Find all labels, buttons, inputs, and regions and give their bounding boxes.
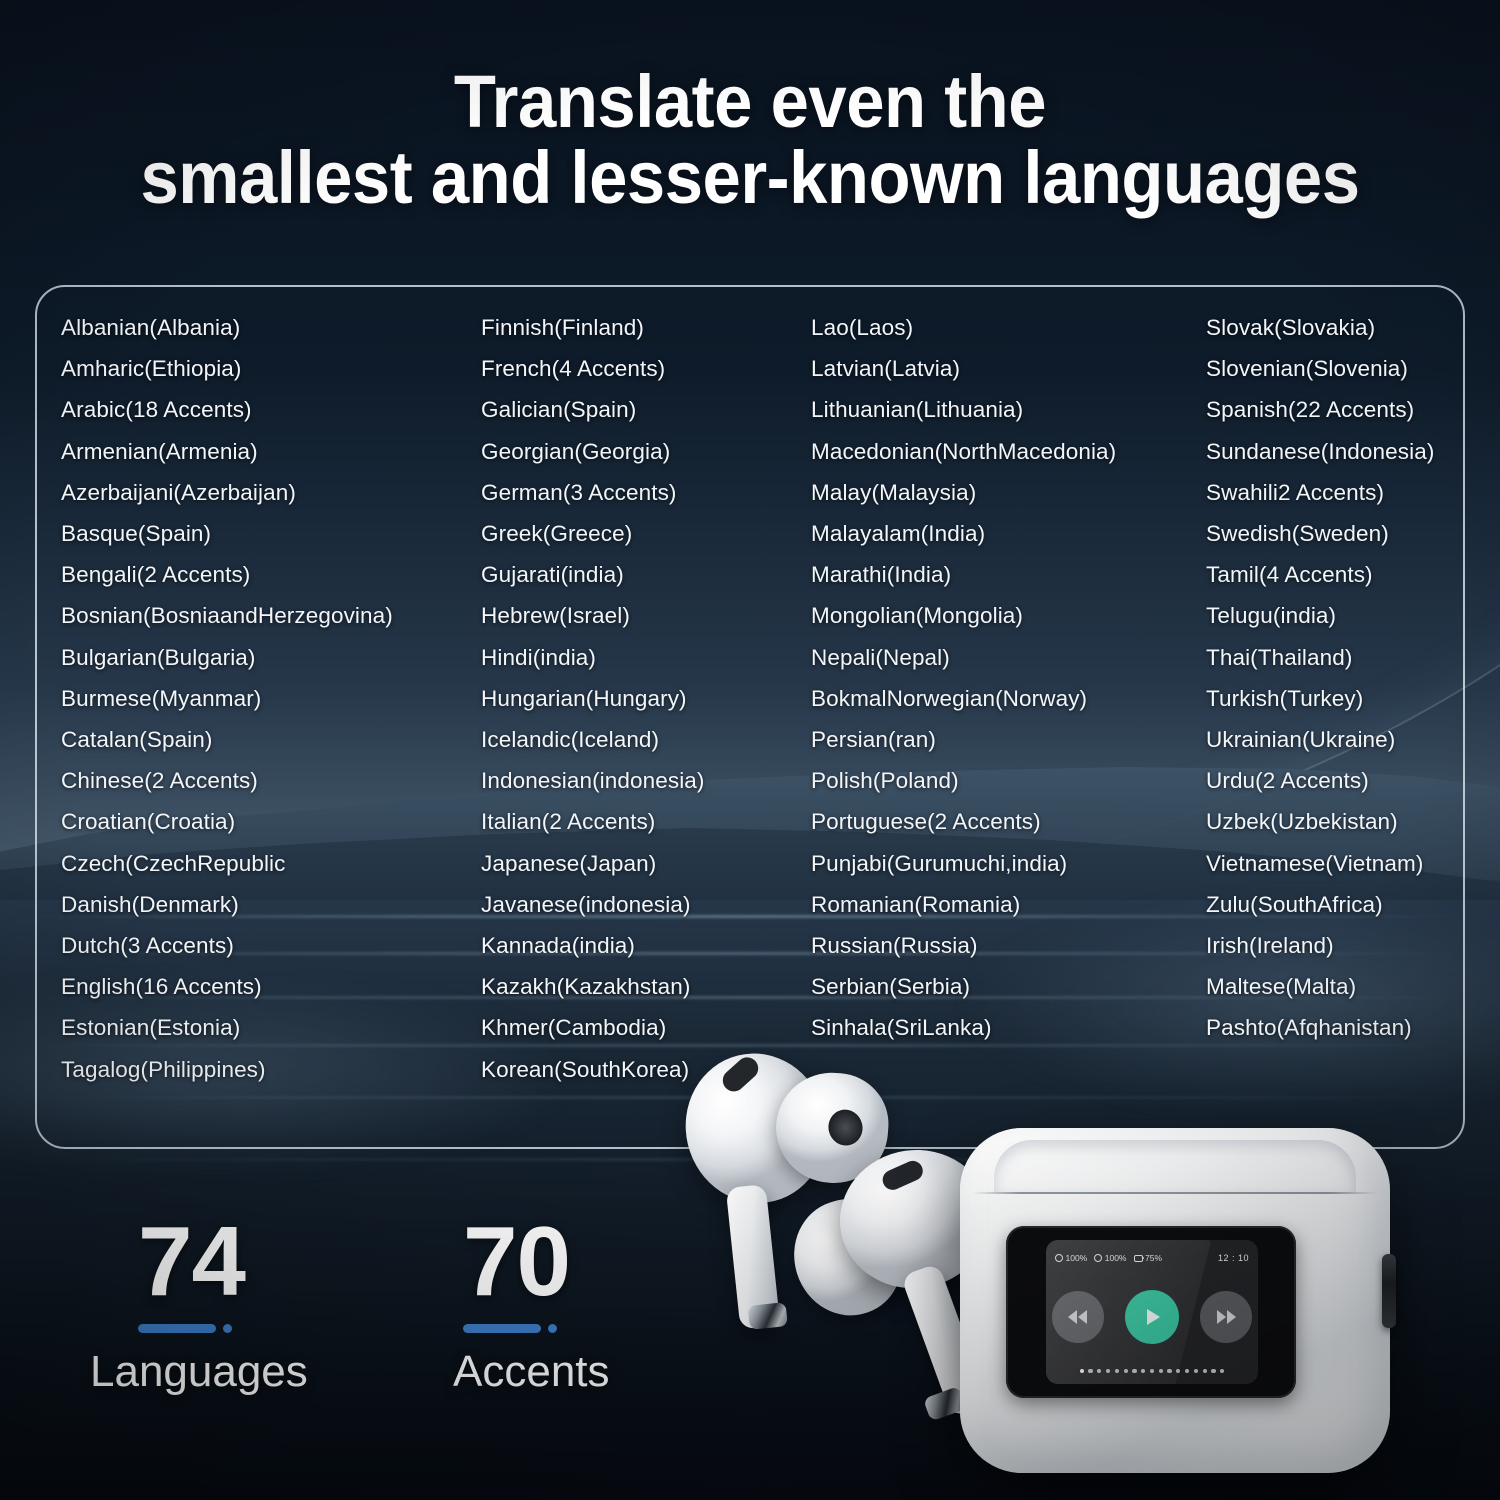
language-item: German(3 Accents)	[481, 472, 811, 513]
language-item: Turkish(Turkey)	[1206, 678, 1491, 719]
language-item: Portuguese(2 Accents)	[811, 801, 1206, 842]
next-track-button[interactable]	[1200, 1291, 1252, 1343]
language-item: Latvian(Latvia)	[811, 348, 1206, 389]
page-dot	[1141, 1369, 1145, 1373]
language-item: Amharic(Ethiopia)	[61, 348, 481, 389]
language-item: Burmese(Myanmar)	[61, 678, 481, 719]
rewind-icon	[1066, 1307, 1090, 1327]
clock-time: 12 : 10	[1218, 1253, 1249, 1263]
page-dot	[1203, 1369, 1207, 1373]
stat-label: Accents	[453, 1347, 610, 1397]
stat-bar-dot	[548, 1324, 557, 1333]
language-item: Hungarian(Hungary)	[481, 678, 811, 719]
language-item: Ukrainian(Ukraine)	[1206, 719, 1491, 760]
language-item: Greek(Greece)	[481, 513, 811, 554]
stat-accent-bar	[138, 1324, 308, 1333]
language-column-1: Albanian(Albania)Amharic(Ethiopia)Arabic…	[61, 307, 481, 1149]
earbud-left-icon	[1055, 1254, 1063, 1262]
language-item: Pashto(Afqhanistan)	[1206, 1007, 1491, 1048]
language-item: Swahili2 Accents)	[1206, 472, 1491, 513]
play-icon	[1141, 1306, 1163, 1328]
language-item: Azerbaijani(Azerbaijan)	[61, 472, 481, 513]
page-dot	[1185, 1369, 1189, 1373]
right-earbud-battery-indicator: 100%	[1094, 1253, 1126, 1263]
language-item: English(16 Accents)	[61, 966, 481, 1007]
language-item: Croatian(Croatia)	[61, 801, 481, 842]
page-title: Translate even the smallest and lesser-k…	[53, 64, 1448, 216]
page-dot	[1088, 1369, 1092, 1373]
charging-case: 100% 100% 75% 12 : 10	[960, 1128, 1390, 1473]
language-item: Russian(Russia)	[811, 925, 1206, 966]
language-item: Nepali(Nepal)	[811, 637, 1206, 678]
stat-value: 74	[138, 1212, 308, 1310]
language-item: Bulgarian(Bulgaria)	[61, 637, 481, 678]
stats-row: 74 Languages 70 Accents	[78, 1212, 698, 1422]
page-dot	[1167, 1369, 1171, 1373]
language-item: Catalan(Spain)	[61, 719, 481, 760]
page-dot	[1150, 1369, 1154, 1373]
language-item: French(4 Accents)	[481, 348, 811, 389]
right-earbud-battery-value: 100%	[1105, 1253, 1127, 1263]
language-item: Estonian(Estonia)	[61, 1007, 481, 1048]
case-lid-seam	[972, 1192, 1378, 1194]
stat-languages: 74 Languages	[138, 1212, 308, 1397]
stat-bar-segment	[138, 1324, 216, 1333]
language-item: Albanian(Albania)	[61, 307, 481, 348]
page-dot	[1159, 1369, 1163, 1373]
stat-label: Languages	[90, 1347, 308, 1397]
language-item: Vietnamese(Vietnam)	[1206, 843, 1491, 884]
media-controls	[1046, 1286, 1258, 1348]
language-item: Czech(CzechRepublic	[61, 843, 481, 884]
left-earbud-battery-value: 100%	[1066, 1253, 1088, 1263]
product-marketing-image: Translate even the smallest and lesser-k…	[0, 0, 1500, 1500]
earbud-right-icon	[1094, 1254, 1102, 1262]
language-item: Uzbek(Uzbekistan)	[1206, 801, 1491, 842]
case-side-button[interactable]	[1382, 1254, 1396, 1328]
language-item: Malayalam(India)	[811, 513, 1206, 554]
battery-icon	[1134, 1255, 1143, 1262]
language-item: Telugu(india)	[1206, 595, 1491, 636]
language-item: Serbian(Serbia)	[811, 966, 1206, 1007]
language-item: Bosnian(BosniaandHerzegovina)	[61, 595, 481, 636]
language-column-4: Slovak(Slovakia)Slovenian(Slovenia)Spani…	[1206, 307, 1491, 1149]
earbud-chrome-tip	[748, 1302, 788, 1330]
previous-track-button[interactable]	[1052, 1291, 1104, 1343]
page-dot	[1124, 1369, 1128, 1373]
case-touch-screen[interactable]: 100% 100% 75% 12 : 10	[1046, 1240, 1258, 1384]
language-item: Japanese(Japan)	[481, 843, 811, 884]
fast-forward-icon	[1214, 1307, 1238, 1327]
language-item: Indonesian(indonesia)	[481, 760, 811, 801]
language-item: Chinese(2 Accents)	[61, 760, 481, 801]
language-item: Icelandic(Iceland)	[481, 719, 811, 760]
language-item: Arabic(18 Accents)	[61, 389, 481, 430]
stat-accents: 70 Accents	[463, 1212, 610, 1397]
stat-accent-bar	[463, 1324, 610, 1333]
language-item: Gujarati(india)	[481, 554, 811, 595]
page-dot	[1097, 1369, 1101, 1373]
language-item: Galician(Spain)	[481, 389, 811, 430]
screen-page-indicator	[1046, 1369, 1258, 1373]
stat-value: 70	[463, 1212, 610, 1310]
language-item: Maltese(Malta)	[1206, 966, 1491, 1007]
left-earbud-battery-indicator: 100%	[1055, 1253, 1087, 1263]
language-item: Punjabi(Gurumuchi,india)	[811, 843, 1206, 884]
page-dot	[1115, 1369, 1119, 1373]
language-item: Kazakh(Kazakhstan)	[481, 966, 811, 1007]
language-item: Polish(Poland)	[811, 760, 1206, 801]
page-dot	[1176, 1369, 1180, 1373]
language-item: Zulu(SouthAfrica)	[1206, 884, 1491, 925]
language-item: Sundanese(Indonesia)	[1206, 431, 1491, 472]
language-item: Spanish(22 Accents)	[1206, 389, 1491, 430]
language-item: Slovak(Slovakia)	[1206, 307, 1491, 348]
language-item: Basque(Spain)	[61, 513, 481, 554]
language-item: Mongolian(Mongolia)	[811, 595, 1206, 636]
page-dot	[1194, 1369, 1198, 1373]
language-item: Armenian(Armenia)	[61, 431, 481, 472]
screen-status-bar: 100% 100% 75% 12 : 10	[1046, 1250, 1258, 1266]
language-item: Romanian(Romania)	[811, 884, 1206, 925]
page-dot	[1220, 1369, 1224, 1373]
language-item: BokmalNorwegian(Norway)	[811, 678, 1206, 719]
headline-line-2: smallest and lesser-known languages	[53, 140, 1448, 216]
case-lid-crease	[994, 1140, 1356, 1192]
language-item: Marathi(India)	[811, 554, 1206, 595]
language-item: Georgian(Georgia)	[481, 431, 811, 472]
language-list-panel: Albanian(Albania)Amharic(Ethiopia)Arabic…	[35, 285, 1465, 1149]
language-item: Kannada(india)	[481, 925, 811, 966]
stat-bar-dot	[223, 1324, 232, 1333]
language-item: Irish(Ireland)	[1206, 925, 1491, 966]
language-item: Danish(Denmark)	[61, 884, 481, 925]
language-item: Persian(ran)	[811, 719, 1206, 760]
play-button[interactable]	[1125, 1290, 1179, 1344]
language-item: Bengali(2 Accents)	[61, 554, 481, 595]
language-item: Thai(Thailand)	[1206, 637, 1491, 678]
language-column-2: Finnish(Finland)French(4 Accents)Galicia…	[481, 307, 811, 1149]
case-battery-value: 75%	[1145, 1253, 1162, 1263]
language-item: Malay(Malaysia)	[811, 472, 1206, 513]
language-item: Javanese(indonesia)	[481, 884, 811, 925]
stat-bar-segment	[463, 1324, 541, 1333]
page-dot	[1080, 1369, 1084, 1373]
page-dot	[1211, 1369, 1215, 1373]
language-item: Lithuanian(Lithuania)	[811, 389, 1206, 430]
language-item: Tamil(4 Accents)	[1206, 554, 1491, 595]
language-item: Slovenian(Slovenia)	[1206, 348, 1491, 389]
language-item: Swedish(Sweden)	[1206, 513, 1491, 554]
language-item: Finnish(Finland)	[481, 307, 811, 348]
language-item: Macedonian(NorthMacedonia)	[811, 431, 1206, 472]
language-item: Hindi(india)	[481, 637, 811, 678]
headline-line-1: Translate even the	[454, 60, 1046, 143]
case-screen-bezel: 100% 100% 75% 12 : 10	[1006, 1226, 1296, 1398]
language-item: Urdu(2 Accents)	[1206, 760, 1491, 801]
page-dot	[1106, 1369, 1110, 1373]
language-item: Italian(2 Accents)	[481, 801, 811, 842]
language-item: Dutch(3 Accents)	[61, 925, 481, 966]
language-item: Hebrew(Israel)	[481, 595, 811, 636]
language-item: Tagalog(Philippines)	[61, 1049, 481, 1090]
language-item: Lao(Laos)	[811, 307, 1206, 348]
page-dot	[1132, 1369, 1136, 1373]
case-battery-indicator: 75%	[1134, 1253, 1163, 1263]
